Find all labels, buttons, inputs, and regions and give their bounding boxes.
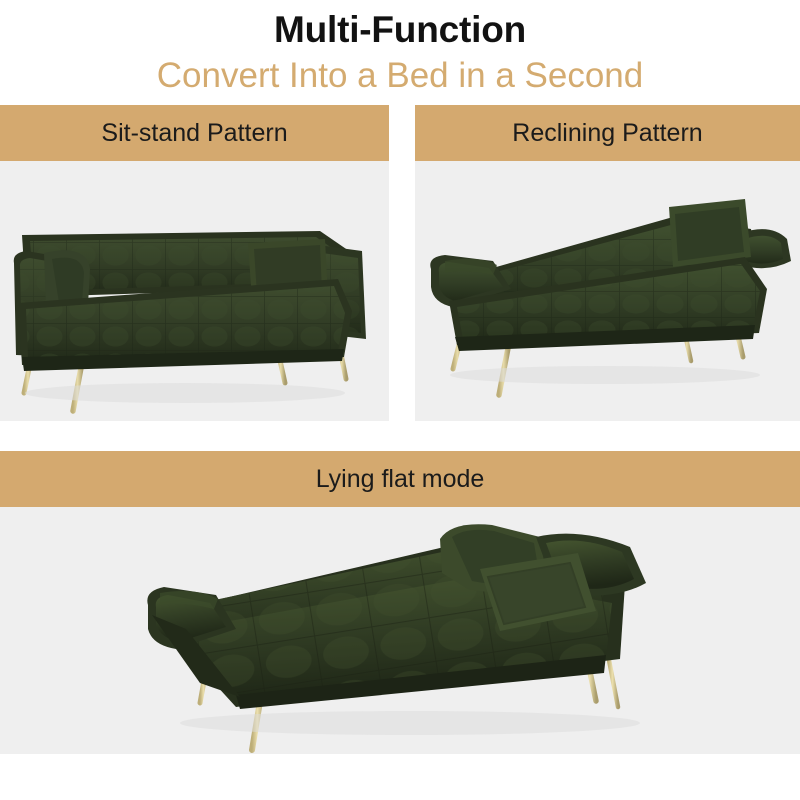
bottom-panel-row (0, 507, 800, 754)
sofa-lying-flat-illustration (0, 507, 800, 754)
sofa-shadow (450, 366, 760, 384)
banner-label-reclining: Reclining Pattern (512, 119, 702, 148)
sub-title: Convert Into a Bed in a Second (0, 52, 800, 98)
bed-shadow (180, 711, 640, 735)
infographic-header: Multi-Function Convert Into a Bed in a S… (0, 0, 800, 98)
panel-lying-flat (0, 507, 800, 754)
panel-sit-stand (0, 161, 389, 421)
banner-lying-flat: Lying flat mode (0, 451, 800, 507)
panel-reclining (415, 161, 800, 421)
banner-label-lying-flat: Lying flat mode (316, 465, 485, 494)
banner-reclining: Reclining Pattern (415, 105, 800, 161)
sofa-reclining-illustration (415, 161, 800, 421)
top-panel-row (0, 161, 800, 421)
main-title: Multi-Function (0, 8, 800, 52)
bottom-banner-row: Lying flat mode (0, 451, 800, 507)
sofa-shadow (25, 383, 345, 403)
panel-divider-gap (389, 161, 415, 421)
banner-label-sit-stand: Sit-stand Pattern (101, 119, 287, 148)
section-spacer (0, 421, 800, 451)
top-banner-row: Sit-stand Pattern Reclining Pattern (0, 105, 800, 161)
sofa-sit-stand-illustration (0, 161, 389, 421)
banner-divider-gap (389, 105, 415, 161)
banner-sit-stand: Sit-stand Pattern (0, 105, 389, 161)
